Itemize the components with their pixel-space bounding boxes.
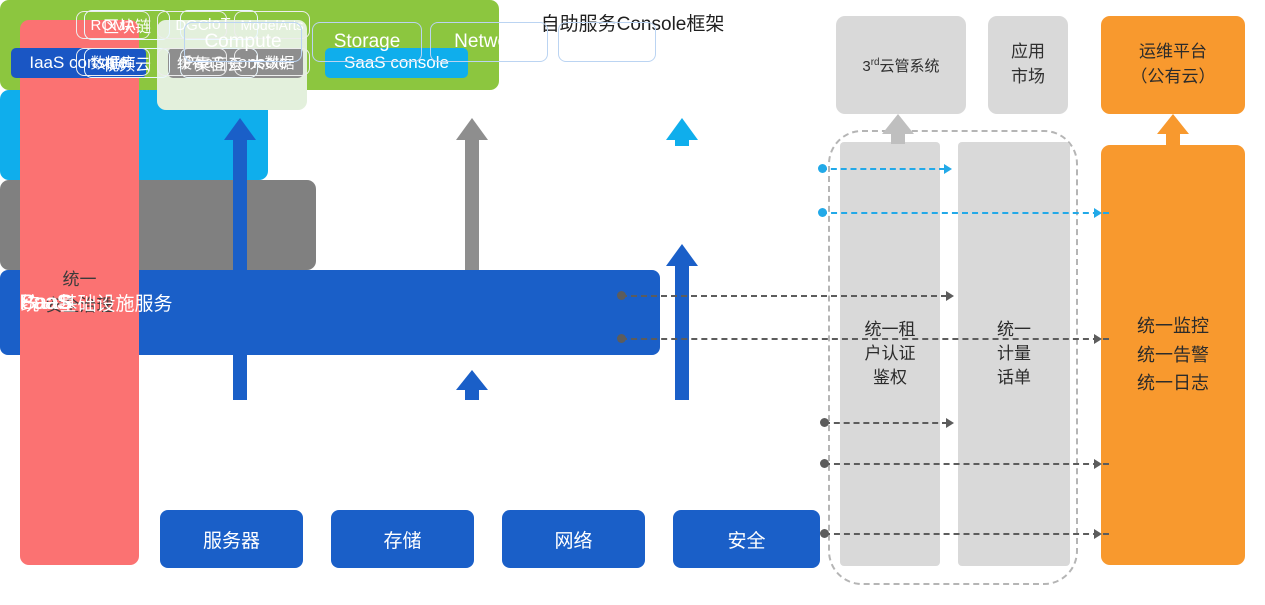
third-party-superscript: rd: [871, 57, 880, 68]
arrow-shaft: [675, 138, 689, 146]
infra-chip-network[interactable]: Network: [430, 22, 548, 62]
infrastructure-bar-label: 统一基础设施服务: [14, 0, 179, 605]
dashed-arrow-head-icon: [944, 164, 952, 174]
arrow-shaft: [465, 388, 479, 400]
dashed-line-paas-to-auth: [621, 295, 947, 297]
arrow-infrastructure-to-saas: [666, 244, 698, 400]
dashed-line-infra-to-ops: [824, 463, 1109, 465]
hardware-box-server[interactable]: 服务器: [160, 510, 303, 568]
dashed-line-hardware-to-ops: [824, 533, 1109, 535]
infra-chip-storage[interactable]: Storage: [312, 22, 422, 62]
dashed-arrow-head-icon: [1094, 334, 1102, 344]
arrow-head-icon: [456, 118, 488, 140]
hardware-box-network[interactable]: 网络: [502, 510, 645, 568]
arrow-infrastructure-to-api-gateway: [224, 118, 256, 400]
arrow-shaft: [233, 138, 247, 400]
arrow-head-icon: [456, 370, 488, 390]
ops-stack-label: 统一监控 统一告警 统一日志: [1137, 312, 1209, 398]
arrow-auth-to-third-party: [882, 114, 914, 144]
dashed-line-origin-dot: [820, 418, 829, 427]
infra-chip-cce[interactable]: CCE: [558, 22, 656, 62]
auth-column-label: 统一租 户认证 鉴权: [865, 318, 916, 390]
arrow-saas-to-console: [666, 118, 698, 146]
ops-platform-box: 运维平台 （公有云）: [1101, 16, 1245, 114]
app-market-label: 应用 市场: [1011, 40, 1045, 89]
app-market-box: 应用 市场: [988, 16, 1068, 114]
unified-metering-billing-column: 统一 计量 话单: [958, 142, 1070, 566]
arrow-head-icon: [1157, 114, 1189, 134]
unified-infrastructure-service-bar: 统一基础设施服务 Compute Storage Network CCE: [0, 270, 660, 355]
arrow-head-icon: [666, 244, 698, 266]
billing-column-label: 统一 计量 话单: [997, 318, 1031, 390]
dashed-line-origin-dot: [820, 459, 829, 468]
dashed-arrow-head-icon: [1094, 459, 1102, 469]
dashed-line-origin-dot: [818, 208, 827, 217]
dashed-line-paas-to-ops: [621, 338, 1109, 340]
dashed-line-saas-to-auth: [821, 168, 945, 170]
third-party-cloud-management-box: 3rd云管系统: [836, 16, 966, 114]
dashed-line-origin-dot: [617, 334, 626, 343]
dashed-line-origin-dot: [820, 529, 829, 538]
dashed-line-origin-dot: [818, 164, 827, 173]
ops-platform-label: 运维平台 （公有云）: [1131, 40, 1216, 89]
dashed-arrow-head-icon: [1094, 529, 1102, 539]
arrow-head-icon: [224, 118, 256, 140]
dashed-arrow-head-icon: [1094, 208, 1102, 218]
arrow-head-icon: [666, 118, 698, 140]
architecture-diagram: 统一 安全治理 API网关 自助服务Console框架 IaaS console…: [0, 0, 1265, 605]
unified-tenant-auth-column: 统一租 户认证 鉴权: [840, 142, 940, 566]
infra-chip-compute[interactable]: Compute: [184, 22, 302, 62]
dashed-line-saas-to-ops: [821, 212, 1109, 214]
arrow-paas-to-console: [456, 118, 488, 270]
unified-monitoring-alarm-log-column: 统一监控 统一告警 统一日志: [1101, 145, 1245, 565]
dashed-line-origin-dot: [617, 291, 626, 300]
arrow-head-icon: [882, 114, 914, 134]
arrow-shaft: [465, 138, 479, 270]
hardware-box-storage[interactable]: 存储: [331, 510, 474, 568]
arrow-ops-stack-to-platform: [1157, 114, 1189, 146]
arrow-shaft: [1166, 132, 1180, 146]
arrow-shaft: [891, 132, 905, 144]
dashed-arrow-head-icon: [946, 418, 954, 428]
dashed-line-infra-to-auth: [824, 422, 948, 424]
hardware-box-security[interactable]: 安全: [673, 510, 820, 568]
arrow-shaft: [675, 264, 689, 400]
dashed-arrow-head-icon: [946, 291, 954, 301]
arrow-infrastructure-to-paas: [456, 370, 488, 400]
third-party-label: 3rd云管系统: [862, 55, 939, 76]
